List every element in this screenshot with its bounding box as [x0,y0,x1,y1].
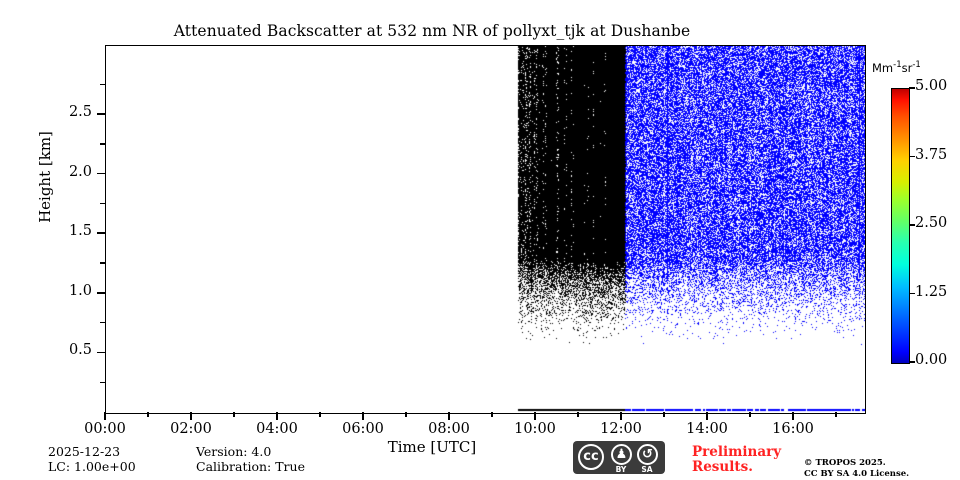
x-tick-mark [104,412,106,420]
cc-logo-icon: cc [578,444,604,470]
colorbar-gradient [891,88,910,364]
x-tick-label: 08:00 [409,421,489,437]
colorbar-tick-label: 5.00 [915,78,947,94]
x-tick-minor [319,412,320,417]
x-tick-label: 16:00 [753,421,833,437]
colorbar-tick-label: 3.75 [915,147,947,163]
x-tick-minor [147,412,148,417]
x-tick-label: 04:00 [237,421,317,437]
y-tick-minor [100,84,105,85]
x-tick-mark [362,412,364,420]
y-tick-label: 0.5 [40,342,92,358]
preliminary-results-line1: Preliminary [692,444,781,460]
colorbar-unit-mid: sr [902,61,913,75]
x-tick-mark [792,412,794,420]
colorbar-unit-label: Mm-1sr-1 [872,60,921,75]
colorbar-tick-label: 2.50 [915,215,947,231]
x-tick-label: 14:00 [667,421,747,437]
y-tick-minor [100,382,105,383]
footer-date: 2025-12-23 [48,444,120,459]
copyright-line1: © TROPOS 2025. [804,458,886,468]
copyright-line2: CC BY SA 4.0 License. [804,469,909,479]
page-title: Attenuated Backscatter at 532 nm NR of p… [0,22,864,40]
cc-by-label: BY [609,465,633,474]
x-tick-label: 02:00 [151,421,231,437]
colorbar-tick-label: 0.00 [915,352,947,368]
y-tick-mark [97,292,105,294]
x-tick-minor [491,412,492,417]
colorbar-unit-base: Mm [872,61,893,75]
y-tick-mark [97,173,105,175]
x-tick-mark [190,412,192,420]
y-tick-minor [100,322,105,323]
footer-lidar-const: LC: 1.00e+00 [48,459,136,474]
y-tick-label: 2.0 [40,164,92,180]
footer-calibration: Calibration: True [196,459,305,474]
plot-axes [105,45,866,414]
y-tick-label: 1.5 [40,223,92,239]
footer-version: Version: 4.0 [196,444,271,459]
y-tick-label: 2.5 [40,104,92,120]
x-tick-mark [534,412,536,420]
backscatter-heatmap [106,46,865,413]
y-tick-mark [97,113,105,115]
creative-commons-badge-icon: cc ♟ ↺ BY SA [573,441,665,474]
preliminary-results-line2: Results. [692,459,753,475]
x-tick-label: 00:00 [65,421,145,437]
cc-sa-label: SA [635,465,659,474]
colorbar-unit-exp1: -1 [893,60,901,70]
x-tick-mark [276,412,278,420]
x-tick-minor [749,412,750,417]
x-tick-minor [835,412,836,417]
y-tick-minor [100,143,105,144]
x-tick-mark [706,412,708,420]
colorbar-unit-exp2: -1 [912,60,920,70]
x-tick-minor [663,412,664,417]
x-tick-minor [577,412,578,417]
x-tick-minor [233,412,234,417]
x-tick-mark [448,412,450,420]
x-tick-label: 06:00 [323,421,403,437]
colorbar-tick-label: 1.25 [915,284,947,300]
x-tick-minor [405,412,406,417]
y-tick-label: 1.0 [40,283,92,299]
x-tick-label: 12:00 [581,421,661,437]
cc-by-person-icon: ♟ [611,444,632,465]
y-tick-mark [97,232,105,234]
x-tick-label: 10:00 [495,421,575,437]
cc-sa-share-icon: ↺ [637,444,658,465]
x-tick-mark [620,412,622,420]
y-tick-minor [100,203,105,204]
y-tick-mark [97,352,105,354]
y-tick-minor [100,262,105,263]
